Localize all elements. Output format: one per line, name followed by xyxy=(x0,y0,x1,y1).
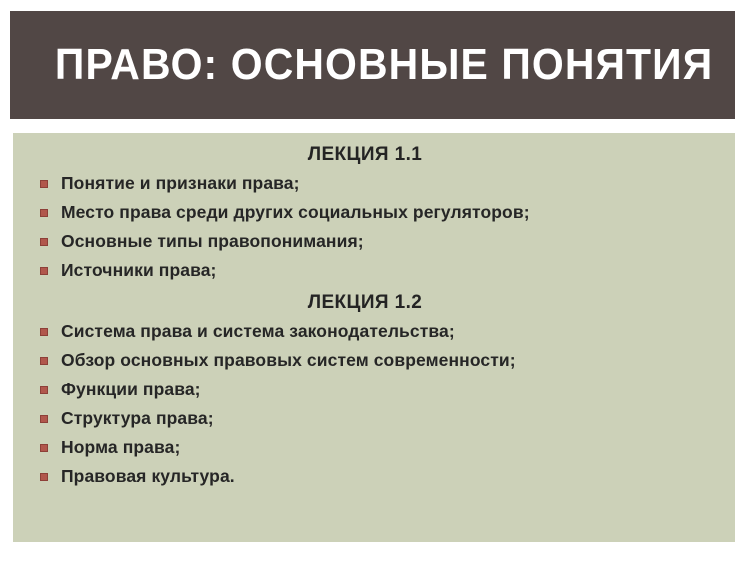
list-item-label: Основные типы правопонимания; xyxy=(61,227,364,256)
square-bullet-icon xyxy=(40,180,48,188)
slide-title-bar: ПРАВО: ОСНОВНЫЕ ПОНЯТИЯ xyxy=(10,11,735,119)
list-item-label: Понятие и признаки права; xyxy=(61,169,300,198)
section-heading-lecture-1-1: ЛЕКЦИЯ 1.1 xyxy=(13,143,735,167)
square-bullet-icon xyxy=(40,415,48,423)
square-bullet-icon xyxy=(40,267,48,275)
square-bullet-icon xyxy=(40,473,48,481)
topic-list-lecture-1-1: Понятие и признаки права; Место права ср… xyxy=(13,169,735,285)
square-bullet-icon xyxy=(40,328,48,336)
square-bullet-icon xyxy=(40,209,48,217)
slide: ПРАВО: ОСНОВНЫЕ ПОНЯТИЯ ЛЕКЦИЯ 1.1 Понят… xyxy=(0,0,750,561)
list-item[interactable]: Система права и система законодательства… xyxy=(13,317,735,346)
list-item[interactable]: Обзор основных правовых систем современн… xyxy=(13,346,735,375)
list-item[interactable]: Место права среди других социальных регу… xyxy=(13,198,735,227)
square-bullet-icon xyxy=(40,357,48,365)
list-item-label: Обзор основных правовых систем современн… xyxy=(61,346,516,375)
list-item[interactable]: Функции права; xyxy=(13,375,735,404)
list-item-label: Система права и система законодательства… xyxy=(61,317,455,346)
list-item-label: Место права среди других социальных регу… xyxy=(61,198,530,227)
square-bullet-icon xyxy=(40,238,48,246)
list-item[interactable]: Норма права; xyxy=(13,433,735,462)
list-item[interactable]: Структура права; xyxy=(13,404,735,433)
square-bullet-icon xyxy=(40,386,48,394)
list-item-label: Структура права; xyxy=(61,404,214,433)
list-item[interactable]: Понятие и признаки права; xyxy=(13,169,735,198)
list-item[interactable]: Правовая культура. xyxy=(13,462,735,491)
list-item-label: Норма права; xyxy=(61,433,180,462)
topic-list-lecture-1-2: Система права и система законодательства… xyxy=(13,317,735,491)
square-bullet-icon xyxy=(40,444,48,452)
list-item-label: Функции права; xyxy=(61,375,201,404)
page-title: ПРАВО: ОСНОВНЫЕ ПОНЯТИЯ xyxy=(32,43,713,87)
list-item[interactable]: Основные типы правопонимания; xyxy=(13,227,735,256)
slide-body-panel: ЛЕКЦИЯ 1.1 Понятие и признаки права; Мес… xyxy=(13,133,735,542)
list-item-label: Правовая культура. xyxy=(61,462,235,491)
list-item[interactable]: Источники права; xyxy=(13,256,735,285)
list-item-label: Источники права; xyxy=(61,256,216,285)
section-heading-lecture-1-2: ЛЕКЦИЯ 1.2 xyxy=(13,291,735,315)
